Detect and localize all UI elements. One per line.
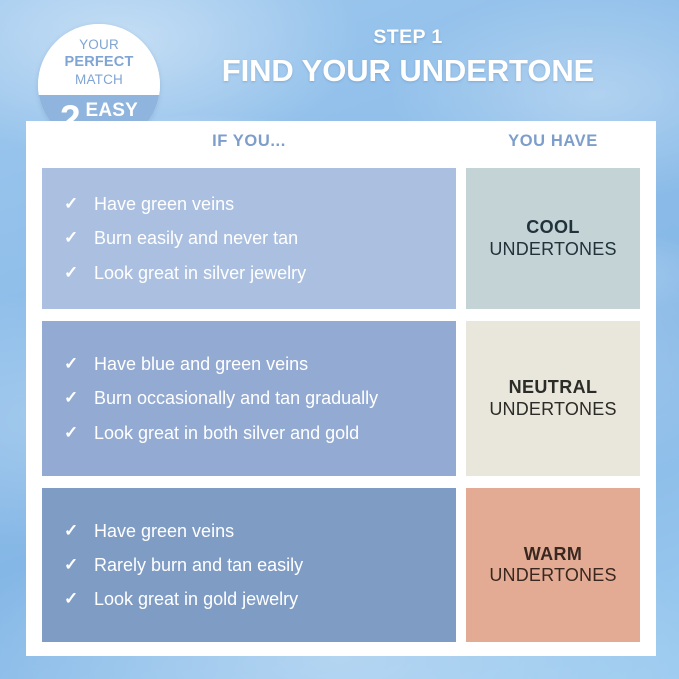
undertone-name: NEUTRAL (509, 377, 598, 398)
badge-label-easy: EASY (86, 102, 139, 120)
criteria-text: Look great in gold jewelry (94, 588, 440, 610)
badge-line-your: YOUR (79, 37, 119, 53)
table-row: ✓ Have blue and green veins ✓ Burn occas… (42, 321, 640, 476)
column-header-you-have: YOU HAVE (466, 132, 640, 151)
step-label: STEP 1 (175, 28, 641, 48)
criteria-text: Have green veins (94, 520, 440, 542)
check-icon: ✓ (64, 193, 94, 214)
check-icon: ✓ (64, 387, 94, 408)
list-item: ✓ Have green veins (64, 187, 440, 221)
column-header-row: IF YOU... YOU HAVE (42, 132, 640, 166)
check-icon: ✓ (64, 227, 94, 248)
criteria-text: Rarely burn and tan easily (94, 554, 440, 576)
badge-line-perfect: PERFECT (64, 54, 133, 72)
table-row: ✓ Have green veins ✓ Rarely burn and tan… (42, 488, 640, 642)
list-item: ✓ Look great in gold jewelry (64, 582, 440, 616)
undertone-name: WARM (524, 544, 583, 565)
check-icon: ✓ (64, 554, 94, 575)
criteria-panel: ✓ Have blue and green veins ✓ Burn occas… (42, 321, 456, 476)
check-icon: ✓ (64, 262, 94, 283)
criteria-text: Have blue and green veins (94, 353, 440, 375)
criteria-panel: ✓ Have green veins ✓ Rarely burn and tan… (42, 488, 456, 642)
list-item: ✓ Have green veins (64, 514, 440, 548)
undertone-table-card: IF YOU... YOU HAVE ✓ Have green veins ✓ … (26, 121, 656, 656)
result-swatch: NEUTRAL UNDERTONES (466, 321, 640, 476)
list-item: ✓ Have blue and green veins (64, 347, 440, 381)
page-title: FIND YOUR UNDERTONE (175, 55, 641, 88)
page-header: STEP 1 FIND YOUR UNDERTONE (175, 28, 641, 87)
criteria-text: Burn easily and never tan (94, 227, 440, 249)
list-item: ✓ Burn easily and never tan (64, 221, 440, 255)
check-icon: ✓ (64, 520, 94, 541)
criteria-text: Look great in silver jewelry (94, 262, 440, 284)
undertone-name: COOL (526, 217, 580, 238)
column-header-if-you: IF YOU... (42, 132, 456, 151)
badge-line-match: MATCH (75, 72, 123, 88)
undertone-sublabel: UNDERTONES (489, 565, 616, 586)
undertone-sublabel: UNDERTONES (489, 239, 616, 260)
criteria-text: Burn occasionally and tan gradually (94, 387, 440, 409)
criteria-panel: ✓ Have green veins ✓ Burn easily and nev… (42, 168, 456, 309)
check-icon: ✓ (64, 353, 94, 374)
result-swatch: WARM UNDERTONES (466, 488, 640, 642)
list-item: ✓ Burn occasionally and tan gradually (64, 381, 440, 415)
check-icon: ✓ (64, 422, 94, 443)
table-row: ✓ Have green veins ✓ Burn easily and nev… (42, 168, 640, 309)
criteria-text: Look great in both silver and gold (94, 422, 440, 444)
criteria-text: Have green veins (94, 193, 440, 215)
list-item: ✓ Rarely burn and tan easily (64, 548, 440, 582)
check-icon: ✓ (64, 588, 94, 609)
list-item: ✓ Look great in both silver and gold (64, 416, 440, 450)
list-item: ✓ Look great in silver jewelry (64, 256, 440, 290)
undertone-sublabel: UNDERTONES (489, 399, 616, 420)
badge-top-half: YOUR PERFECT MATCH (38, 24, 160, 95)
result-swatch: COOL UNDERTONES (466, 168, 640, 309)
